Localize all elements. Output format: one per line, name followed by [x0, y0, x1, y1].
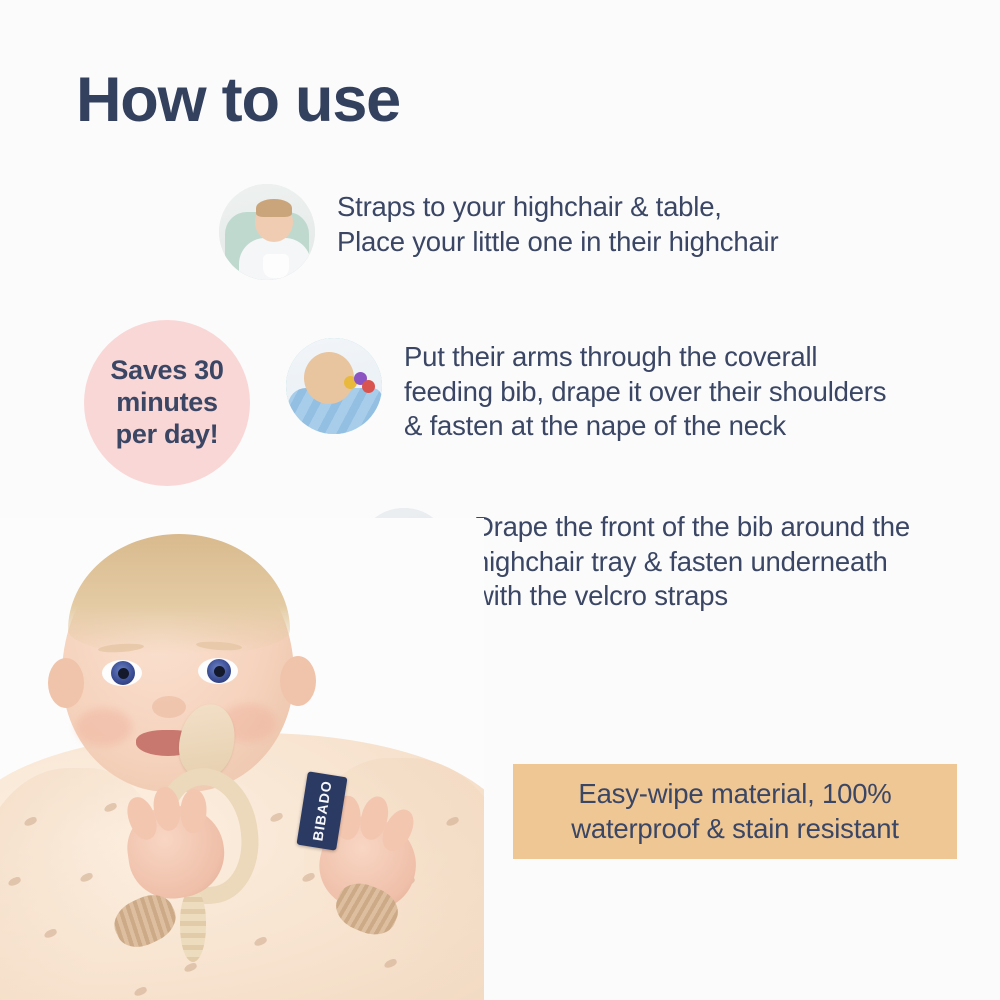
savings-badge: Saves 30 minutes per day!: [84, 320, 250, 486]
step-3-text: Drape the front of the bib around the hi…: [474, 508, 910, 614]
step-1-thumbnail-icon: [219, 184, 315, 280]
hero-baby-photo: [0, 518, 484, 1000]
teething-spoon-tail: [180, 890, 206, 962]
step-2-text: Put their arms through the coverall feed…: [404, 338, 886, 444]
baby-ear-left: [48, 658, 84, 708]
baby-ear-right: [280, 656, 316, 706]
savings-badge-label: Saves 30 minutes per day!: [110, 355, 223, 451]
step-1-text: Straps to your highchair & table, Place …: [337, 184, 778, 259]
step-item-1: Straps to your highchair & table, Place …: [219, 184, 778, 280]
poster-canvas: How to use Straps to your highchair & ta…: [0, 0, 1000, 1000]
step-2-thumbnail-icon: [286, 338, 382, 434]
page-title: How to use: [76, 66, 400, 135]
feature-banner: Easy-wipe material, 100% waterproof & st…: [513, 764, 957, 859]
bibado-brand-label-text: BIBADO: [309, 780, 334, 843]
baby-eye-left: [102, 660, 142, 686]
baby-eye-right: [198, 658, 238, 684]
baby-nose: [152, 696, 186, 718]
feature-banner-label: Easy-wipe material, 100% waterproof & st…: [571, 777, 899, 845]
step-item-2: Put their arms through the coverall feed…: [286, 338, 886, 444]
